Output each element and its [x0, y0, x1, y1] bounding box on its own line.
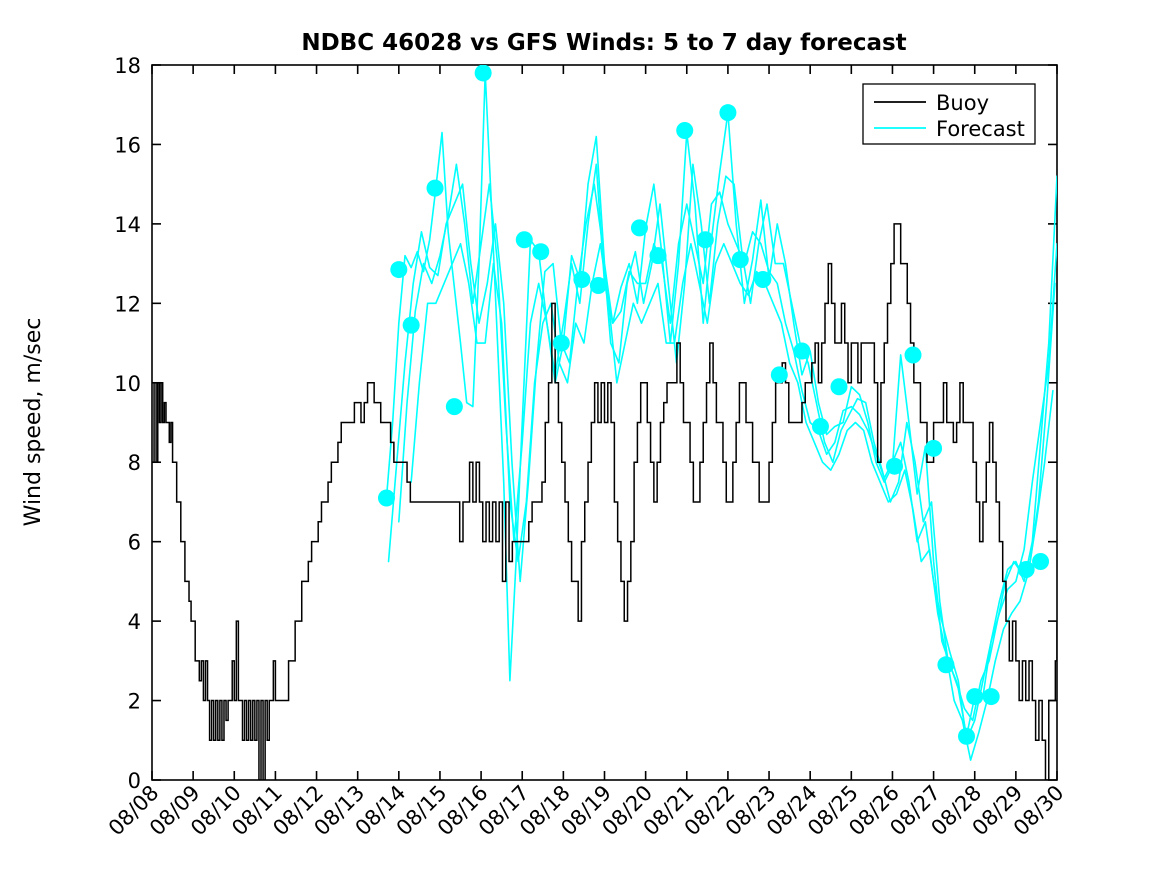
page-title: NDBC 46028 vs GFS Winds: 5 to 7 day fore…	[301, 30, 906, 56]
forecast-marker	[754, 271, 771, 288]
forecast-marker	[446, 398, 463, 415]
forecast-marker	[553, 335, 570, 352]
forecast-marker	[983, 688, 1000, 705]
legend-label-buoy: Buoy	[936, 91, 989, 115]
forecast-marker	[590, 277, 607, 294]
forecast-marker	[631, 219, 648, 236]
y-tick-label: 10	[114, 372, 141, 396]
forecast-marker	[532, 243, 549, 260]
forecast-marker	[905, 346, 922, 363]
forecast-marker	[573, 271, 590, 288]
forecast-marker	[378, 489, 395, 506]
y-tick-label: 4	[128, 610, 141, 634]
y-tick-label: 14	[114, 213, 141, 237]
forecast-marker	[475, 64, 492, 81]
forecast-marker	[771, 366, 788, 383]
forecast-marker	[676, 122, 693, 139]
forecast-marker	[427, 180, 444, 197]
forecast-marker	[830, 378, 847, 395]
forecast-marker	[1032, 553, 1049, 570]
forecast-marker	[966, 688, 983, 705]
forecast-marker	[516, 231, 533, 248]
forecast-marker	[649, 247, 666, 264]
forecast-marker	[403, 317, 420, 334]
y-tick-label: 12	[114, 292, 141, 316]
legend-label-forecast: Forecast	[936, 117, 1025, 141]
forecast-marker	[1018, 561, 1035, 578]
wind-speed-chart: NDBC 46028 vs GFS Winds: 5 to 7 day fore…	[0, 0, 1167, 875]
forecast-marker	[719, 104, 736, 121]
forecast-marker	[697, 231, 714, 248]
forecast-marker	[793, 343, 810, 360]
forecast-marker	[958, 728, 975, 745]
y-axis-label: Wind speed, m/sec	[21, 318, 46, 527]
y-tick-label: 16	[114, 133, 141, 157]
forecast-marker	[937, 656, 954, 673]
y-tick-label: 2	[128, 690, 141, 714]
y-tick-label: 8	[128, 451, 141, 475]
forecast-marker	[925, 440, 942, 457]
forecast-marker	[732, 251, 749, 268]
chart-page: NDBC 46028 vs GFS Winds: 5 to 7 day fore…	[0, 0, 1167, 875]
y-tick-label: 18	[114, 54, 141, 78]
forecast-marker	[812, 418, 829, 435]
legend[interactable]: Buoy Forecast	[863, 84, 1035, 144]
forecast-marker	[390, 261, 407, 278]
forecast-marker	[886, 458, 903, 475]
y-tick-label: 6	[128, 531, 141, 555]
